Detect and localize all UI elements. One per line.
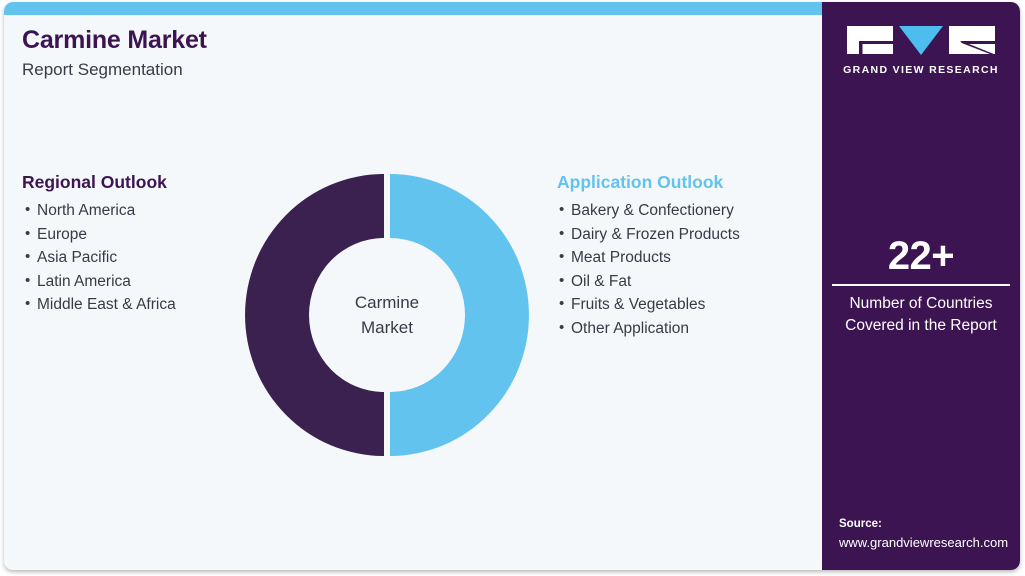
- donut-chart: Carmine Market: [244, 170, 530, 460]
- list-item: Latin America: [22, 270, 252, 294]
- list-item: Bakery & Confectionery: [557, 199, 827, 223]
- application-outlook-heading: Application Outlook: [557, 172, 827, 193]
- gvr-logo-icon: [847, 24, 995, 56]
- page-title: Carmine Market: [22, 26, 622, 55]
- stat-block: 22+ Number of Countries Covered in the R…: [822, 234, 1020, 337]
- stat-label-line2: Covered in the Report: [822, 315, 1020, 337]
- logo: GRAND VIEW RESEARCH: [822, 24, 1020, 76]
- regional-outlook-heading: Regional Outlook: [22, 172, 252, 193]
- donut-segment-regional: [245, 174, 384, 456]
- list-item: Other Application: [557, 317, 827, 341]
- stat-divider: [832, 284, 1010, 286]
- brand-panel: GRAND VIEW RESEARCH 22+ Number of Countr…: [822, 2, 1020, 570]
- page-subtitle: Report Segmentation: [22, 60, 622, 80]
- stat-label-line1: Number of Countries: [822, 293, 1020, 315]
- infographic-canvas: Carmine Market Report Segmentation Regio…: [0, 0, 1025, 576]
- regional-outlook-list: North America Europe Asia Pacific Latin …: [22, 199, 252, 317]
- list-item: Fruits & Vegetables: [557, 293, 827, 317]
- list-item: Dairy & Frozen Products: [557, 223, 827, 247]
- application-outlook-section: Application Outlook Bakery & Confectione…: [557, 172, 827, 340]
- header: Carmine Market Report Segmentation: [22, 26, 622, 79]
- list-item: North America: [22, 199, 252, 223]
- report-card: Carmine Market Report Segmentation Regio…: [4, 2, 1020, 570]
- list-item: Meat Products: [557, 246, 827, 270]
- stat-value: 22+: [822, 234, 1020, 278]
- source-url: www.grandviewresearch.com: [839, 533, 1020, 552]
- application-outlook-list: Bakery & Confectionery Dairy & Frozen Pr…: [557, 199, 827, 340]
- source-block: Source: www.grandviewresearch.com: [839, 516, 1020, 552]
- regional-outlook-section: Regional Outlook North America Europe As…: [22, 172, 252, 317]
- donut-segment-application: [390, 174, 529, 456]
- top-accent-bar: [4, 2, 822, 15]
- list-item: Middle East & Africa: [22, 293, 252, 317]
- donut-chart-svg: [244, 170, 530, 460]
- list-item: Europe: [22, 223, 252, 247]
- list-item: Oil & Fat: [557, 270, 827, 294]
- list-item: Asia Pacific: [22, 246, 252, 270]
- source-label: Source:: [839, 516, 1020, 533]
- logo-text: GRAND VIEW RESEARCH: [843, 64, 999, 76]
